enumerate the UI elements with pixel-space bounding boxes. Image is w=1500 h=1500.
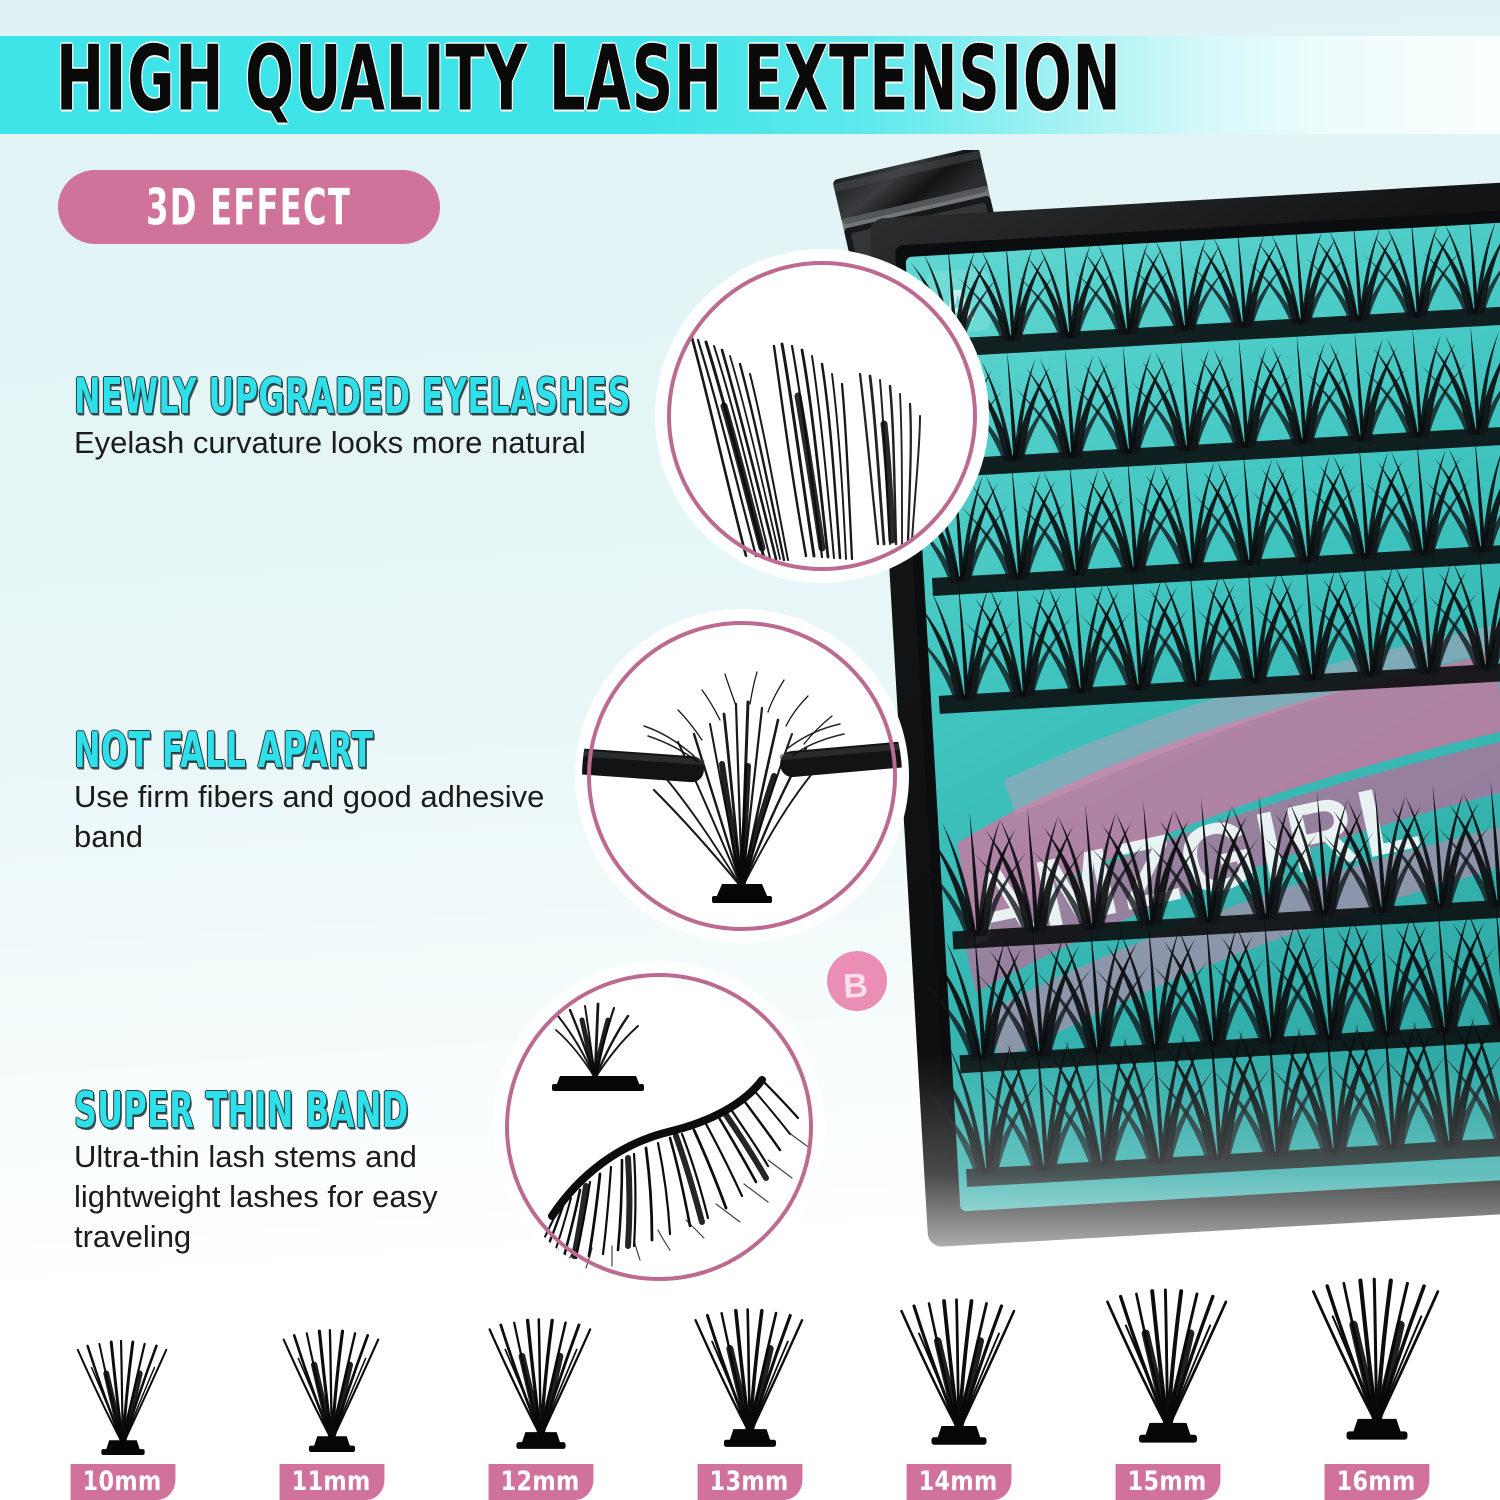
lash-fan-icon bbox=[474, 1310, 608, 1456]
inset-cluster-icon bbox=[552, 1004, 644, 1091]
size-badge: 12mm bbox=[488, 1464, 593, 1500]
lash-fan-icon bbox=[679, 1298, 821, 1456]
curved-lash-fibers-closeup-icon bbox=[662, 256, 982, 576]
size-badge: 10mm bbox=[70, 1464, 175, 1500]
size-badge: 13mm bbox=[698, 1464, 803, 1500]
callout-curved-lash-fibers bbox=[662, 256, 982, 576]
page-title: HIGH QUALITY LASH EXTENSION bbox=[56, 34, 1122, 124]
feature-3-title: SUPER THIN BAND bbox=[74, 1082, 427, 1139]
feature-2-description: Use firm fibers and good adhesive band bbox=[74, 777, 584, 857]
size-item: 16mm bbox=[1273, 1248, 1482, 1500]
feature-1-description: Eyelash curvature looks more natural bbox=[74, 423, 674, 463]
size-item: 11mm bbox=[227, 1248, 436, 1500]
feature-newly-upgraded-eyelashes: NEWLY UPGRADED EYELASHES Eyelash curvatu… bbox=[74, 368, 737, 463]
size-item: 10mm bbox=[18, 1248, 227, 1500]
feature-not-fall-apart: NOT FALL APART Use firm fibers and good … bbox=[74, 722, 584, 857]
size-item: 15mm bbox=[1064, 1248, 1273, 1500]
feature-2-title: NOT FALL APART bbox=[74, 722, 502, 779]
size-item: 13mm bbox=[645, 1248, 854, 1500]
lash-fan-icon bbox=[884, 1286, 1034, 1456]
infographic-canvas: AMZGIRL A B bbox=[0, 0, 1500, 1500]
size-badge: 16mm bbox=[1325, 1464, 1430, 1500]
feature-3-description: Ultra-thin lash stems and lightweight la… bbox=[74, 1137, 494, 1257]
size-item: 14mm bbox=[855, 1248, 1064, 1500]
feature-1-title: NEWLY UPGRADED EYELASHES bbox=[74, 368, 631, 425]
lash-fan-icon bbox=[64, 1338, 182, 1456]
callout-tweezers-lash-cluster bbox=[582, 616, 902, 936]
lash-band-side-view-icon bbox=[500, 968, 818, 1286]
lash-band-icon bbox=[526, 1078, 810, 1270]
svg-text:B: B bbox=[842, 966, 869, 1005]
badge-3d-effect: 3D EFFECT bbox=[58, 170, 440, 244]
size-badge: 11mm bbox=[279, 1464, 384, 1500]
lash-fan-icon bbox=[269, 1324, 395, 1456]
feature-super-thin-band: SUPER THIN BAND Ultra-thin lash stems an… bbox=[74, 1082, 494, 1257]
lash-fan-icon bbox=[1294, 1260, 1460, 1456]
lash-size-strip: 10mm bbox=[0, 1248, 1500, 1500]
lash-fan-icon bbox=[1089, 1274, 1247, 1456]
callout-lash-band-side-view bbox=[500, 968, 818, 1286]
size-badge: 15mm bbox=[1116, 1464, 1221, 1500]
size-badge: 14mm bbox=[907, 1464, 1012, 1500]
badge-3d-effect-label: 3D EFFECT bbox=[147, 178, 352, 236]
tweezers-pulling-lash-cluster-icon bbox=[582, 616, 902, 936]
size-item: 12mm bbox=[436, 1248, 645, 1500]
